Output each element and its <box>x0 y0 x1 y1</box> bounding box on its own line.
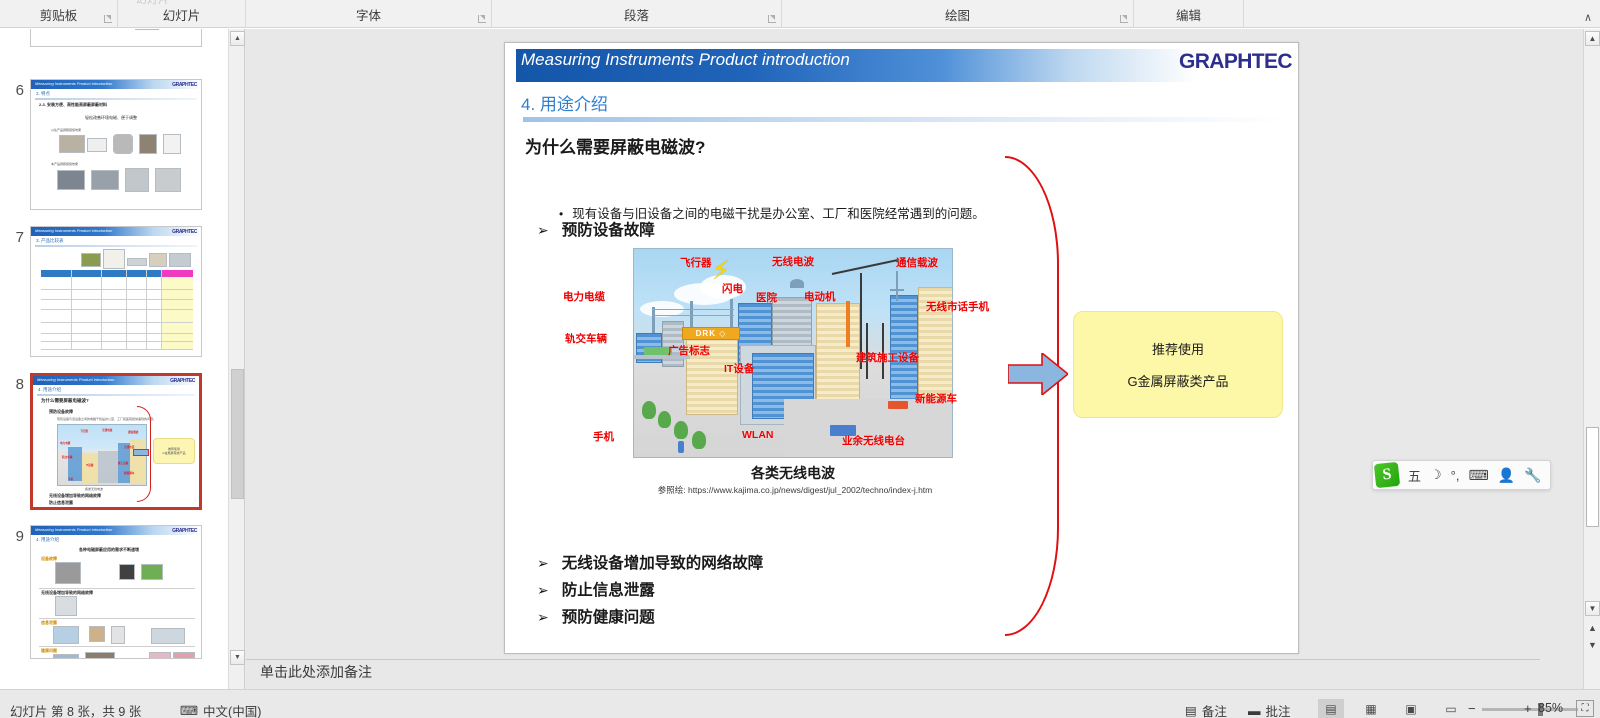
mini-text: 预防健康问题 <box>49 507 73 510</box>
mini-image <box>151 628 185 644</box>
person-icon <box>678 441 684 453</box>
city-label-lightning: 闪电 <box>722 281 743 296</box>
advertising-sign: DRK ◇ <box>682 327 740 340</box>
mini-table-vline <box>126 270 127 349</box>
mini-arrow <box>133 449 149 456</box>
mini-red-label: 新能源车 <box>124 471 134 475</box>
comment-icon: ▬ <box>1248 704 1261 718</box>
city-label-new-energy-car: 新能源车 <box>915 391 957 406</box>
slide-section-title: 4. 用途介绍 <box>521 90 608 115</box>
thumbnail-scrollbar[interactable]: ▲ ▼ <box>228 29 245 689</box>
mini-section: 2. 特点 <box>36 91 50 97</box>
notes-placeholder[interactable]: 单击此处添加备注 <box>260 662 372 682</box>
sogou-ime-toolbar[interactable]: S 五 ☽ °, ⌨ 👤 🔧 <box>1372 460 1551 490</box>
mini-text: 轻松改善环境电磁、便于调整 <box>85 115 137 121</box>
ribbon-group-label: 字体 <box>356 5 381 28</box>
dialog-launcher-icon[interactable] <box>768 15 777 24</box>
mini-image <box>103 249 125 269</box>
recommendation-callout[interactable]: 推荐使用 G金属屏蔽类产品 <box>1073 311 1283 418</box>
status-bar: 幻灯片 第 8 张，共 9 张 ⌨ 中文(中国) ▤ 备注 ▬ 批注 ▤ ▦ ▣… <box>0 689 1600 718</box>
slide-header-title: Measuring Instruments Product introducti… <box>521 50 850 70</box>
slide-canvas-area[interactable]: Measuring Instruments Product introducti… <box>246 29 1540 689</box>
city-label-radio-wave: 无线电波 <box>772 254 814 269</box>
mini-text: G金属屏蔽类产品 <box>162 451 185 455</box>
mini-text: 2-3. 安装方便、高性能高屏蔽屏蔽材料 <box>39 102 107 108</box>
mini-table-vline <box>71 270 72 349</box>
power-line <box>652 315 734 316</box>
list-item[interactable]: 9 Measuring Instruments Product introduc… <box>0 525 228 659</box>
mini-table-line <box>41 341 193 342</box>
mini-image <box>55 562 81 584</box>
mini-image <box>81 253 101 267</box>
mini-band: Measuring Instruments Product introducti… <box>31 526 201 535</box>
thumb-number: 8 <box>0 373 30 395</box>
scroll-down-icon[interactable]: ▼ <box>230 650 245 665</box>
slide-bullet: ➢ 预防健康问题 <box>537 605 655 627</box>
thumb-number: 9 <box>0 525 30 547</box>
mini-table-vline <box>101 270 102 349</box>
mini-logo: GRAPHTEC <box>170 378 195 384</box>
mini-slide: Measuring Instruments Product introducti… <box>31 526 201 658</box>
zoom-percentage[interactable]: 85% <box>1538 701 1563 715</box>
user-icon[interactable]: 👤 <box>1498 467 1515 484</box>
city-source-note: 参照绘: https://www.kajima.co.jp/news/diges… <box>585 484 1005 496</box>
view-sorter-button[interactable]: ▦ <box>1358 699 1384 718</box>
mini-logo: GRAPHTEC <box>172 229 197 235</box>
mini-divider <box>39 646 195 647</box>
mini-city-block <box>98 451 118 483</box>
mini-logo: GRAPHTEC <box>172 82 197 88</box>
scroll-up-icon[interactable]: ▲ <box>1585 31 1600 46</box>
mini-image <box>91 170 119 190</box>
mini-table-line <box>41 333 193 334</box>
mini-band: Measuring Instruments Product introducti… <box>31 80 201 89</box>
mini-rule <box>35 98 197 100</box>
thumb-number: 6 <box>0 79 30 101</box>
slide-scrollbar[interactable]: ▲ ▼ ▲ ▼ <box>1583 29 1600 689</box>
input-mode-wubi-icon[interactable]: 五 <box>1408 466 1421 485</box>
list-item[interactable]: 7 Measuring Instruments Product introduc… <box>0 226 228 357</box>
zoom-in-button[interactable]: + <box>1524 701 1532 716</box>
dialog-launcher-icon[interactable] <box>104 15 113 24</box>
slide-bullet-label: 无线设备增加导致的网络故障 <box>562 551 764 573</box>
mini-image <box>139 134 157 154</box>
scrollbar-thumb[interactable] <box>1586 427 1599 527</box>
tree-shape <box>674 421 688 439</box>
ribbon-group-label: 绘图 <box>945 5 970 28</box>
mini-slide <box>31 29 201 46</box>
mini-image <box>141 564 163 580</box>
next-slide-icon[interactable]: ▼ <box>1585 638 1600 652</box>
mini-image <box>125 168 149 192</box>
mini-slide: Measuring Instruments Product introducti… <box>33 376 199 507</box>
mini-image <box>169 253 191 267</box>
mini-city-block <box>68 447 82 481</box>
fit-to-window-button[interactable]: ⛶ <box>1576 700 1594 717</box>
dot-bullet-icon: • <box>559 207 563 221</box>
mini-image <box>173 652 195 659</box>
ribbon: 剪贴板 幻灯片 幻灯片 字体 段落 绘图 编辑 ∧ <box>0 0 1600 28</box>
city-label-wlan: WLAN <box>742 429 774 441</box>
mini-red-label: 手机 <box>68 477 73 481</box>
arrow-bullet-icon: ➢ <box>537 222 549 239</box>
slide-bullet-label: 预防健康问题 <box>562 605 655 627</box>
scroll-down-icon[interactable]: ▼ <box>1585 601 1600 616</box>
city-label-mobile-phone: 手机 <box>593 429 614 444</box>
keyboard-icon: ⌨ <box>180 703 198 718</box>
mini-image <box>155 168 181 192</box>
crane-mast <box>846 301 850 347</box>
scroll-up-icon[interactable]: ▲ <box>230 31 245 46</box>
mini-band: Measuring Instruments Product introducti… <box>31 227 201 236</box>
ribbon-ghost-label: 幻灯片 <box>136 0 169 7</box>
mini-image <box>53 626 79 644</box>
list-item[interactable] <box>0 29 228 47</box>
mini-red-label: 飞行器 <box>80 429 88 433</box>
recommendation-line-1: 推荐使用 <box>1152 339 1204 358</box>
city-label-aircraft: 飞行器 <box>680 255 712 270</box>
crane-shape <box>832 259 899 275</box>
notes-pane[interactable] <box>246 663 1540 689</box>
mini-slide: Measuring Instruments Product introducti… <box>31 227 201 356</box>
comments-toggle[interactable]: ▬ 批注 <box>1248 701 1291 718</box>
ribbon-group-label: 编辑 <box>1176 5 1201 28</box>
slide-thumbnail-pane[interactable]: 6 Measuring Instruments Product introduc… <box>0 29 228 689</box>
slide-bullet: ➢ 无线设备增加导致的网络故障 <box>537 551 763 573</box>
thumb-frame[interactable]: Measuring Instruments Product introducti… <box>30 79 202 210</box>
ribbon-group-editing[interactable]: 编辑 <box>1134 0 1244 28</box>
mini-logo: GRAPHTEC <box>172 528 197 534</box>
tree-shape <box>692 431 706 449</box>
mini-text: 防止信息泄露 <box>49 500 73 506</box>
communication-tower-icon <box>896 271 898 301</box>
notes-icon: ▤ <box>1185 703 1197 718</box>
ribbon-group-label: 幻灯片 <box>163 5 201 28</box>
road-shape <box>784 399 953 458</box>
thumb-number: 7 <box>0 226 30 248</box>
city-label-power-cable: 电力电缆 <box>563 289 605 304</box>
scrollbar-thumb[interactable] <box>231 369 244 499</box>
mini-band-title: Measuring Instruments Product introducti… <box>37 377 114 382</box>
mini-table-line <box>41 349 193 350</box>
list-item-selected[interactable]: 8 Measuring Instruments Product introduc… <box>0 373 228 510</box>
mini-red-label: IT设备 <box>86 463 94 467</box>
sogou-logo-icon[interactable]: S <box>1374 462 1400 488</box>
soft-keyboard-icon[interactable]: ⌨ <box>1468 467 1488 484</box>
slide-rule <box>523 117 1283 122</box>
slide-question-heading: 为什么需要屏蔽电磁波? <box>525 133 705 158</box>
city-label-rail-vehicle: 轨交车辆 <box>565 331 607 346</box>
mini-band-title: Measuring Instruments Product introducti… <box>35 81 112 86</box>
mini-image <box>111 626 125 644</box>
tree-shape <box>658 411 671 428</box>
mini-table-line <box>41 322 193 323</box>
language-label: 中文(中国) <box>203 701 261 718</box>
mini-red-label: 电力电缆 <box>60 441 70 445</box>
ribbon-group-clipboard[interactable]: 剪贴板 <box>0 0 118 28</box>
moon-icon[interactable]: ☽ <box>1430 467 1442 483</box>
view-show-button[interactable]: ▭ <box>1438 699 1464 718</box>
city-label-comm-carrier: 通信载波 <box>896 255 938 270</box>
city-label-motor: 电动机 <box>804 289 836 304</box>
workspace: 6 Measuring Instruments Product introduc… <box>0 29 1600 689</box>
toolbox-icon[interactable]: 🔧 <box>1524 467 1541 484</box>
city-label-ham-radio: 业余无线电台 <box>842 433 905 448</box>
slide-bullet-label: 防止信息泄露 <box>562 578 655 600</box>
city-label-it-equipment: IT设备 <box>724 361 754 376</box>
city-label-phs-handset: 无线市话手机 <box>926 299 989 314</box>
mini-section: 3. 产品比较表 <box>36 238 64 244</box>
communication-tower-icon <box>890 289 904 291</box>
mini-recommend-box: 推荐使用 G金属屏蔽类产品 <box>153 438 195 464</box>
mini-divider <box>39 588 195 589</box>
mini-table-line <box>41 309 193 310</box>
mini-text: 为什么需要屏蔽电磁波? <box>41 398 89 404</box>
mini-image <box>87 138 107 152</box>
mini-red-label: 无线电波 <box>102 428 112 432</box>
arrow-bullet-icon: ➢ <box>537 609 549 626</box>
mini-image <box>53 654 79 659</box>
thumb-frame[interactable]: Measuring Instruments Product introducti… <box>30 226 202 357</box>
mini-text: 以往产品屏蔽措施效果 <box>51 128 81 132</box>
mini-image <box>55 596 77 616</box>
mini-image <box>57 170 85 190</box>
ribbon-group-drawing[interactable]: 绘图 <box>782 0 1134 28</box>
city-illustration-image[interactable]: ⚡ <box>633 248 953 458</box>
recommendation-line-2: G金属屏蔽类产品 <box>1127 371 1228 390</box>
mini-text: 各种电磁屏蔽应用的需求不断递增 <box>79 547 139 553</box>
mini-text: 预防设备故障 <box>49 409 73 415</box>
thumb-frame[interactable] <box>30 29 202 47</box>
mini-table-highlight-col <box>161 277 193 349</box>
notes-divider <box>246 659 1540 660</box>
blue-arrow-shape[interactable] <box>1008 353 1068 395</box>
car-icon <box>888 401 908 409</box>
dialog-launcher-icon[interactable] <box>1120 15 1129 24</box>
slide-editing-surface[interactable]: Measuring Instruments Product introducti… <box>504 42 1299 654</box>
mini-rule <box>35 245 197 247</box>
mini-image <box>89 626 105 642</box>
city-label-ad-sign: 广告标志 <box>668 343 710 358</box>
arrow-bullet-icon: ➢ <box>537 555 549 572</box>
mini-band: Measuring Instruments Product introducti… <box>33 376 199 385</box>
mini-image <box>149 253 167 267</box>
comments-label: 批注 <box>1266 701 1291 718</box>
dialog-launcher-icon[interactable] <box>478 15 487 24</box>
mini-table-line <box>41 289 193 290</box>
list-item[interactable]: 6 Measuring Instruments Product introduc… <box>0 79 228 210</box>
slide-counter[interactable]: 幻灯片 第 8 张，共 9 张 <box>10 701 141 718</box>
thumb-frame[interactable]: Measuring Instruments Product introducti… <box>30 525 202 659</box>
mini-table-vline <box>146 270 147 349</box>
slide-bullet: ➢ 防止信息泄露 <box>537 578 655 600</box>
ribbon-group-slides[interactable]: 幻灯片 幻灯片 <box>118 0 246 28</box>
mini-divider <box>39 618 195 619</box>
punctuation-icon[interactable]: °, <box>1451 468 1460 483</box>
ribbon-group-paragraph[interactable]: 段落 <box>492 0 782 28</box>
mini-image <box>127 258 147 266</box>
mini-image <box>149 652 171 659</box>
slide-sub-bullet: • 现有设备与旧设备之间的电磁干扰是办公室、工厂和医院经常遇到的问题。 <box>559 203 985 222</box>
mini-image <box>119 564 135 580</box>
mini-section: 4. 用途介绍 <box>38 387 61 393</box>
lightning-icon: ⚡ <box>712 257 730 283</box>
arrow-bullet-icon: ➢ <box>537 582 549 599</box>
notes-label: 备注 <box>1202 701 1227 718</box>
thumb-frame-selected[interactable]: Measuring Instruments Product introducti… <box>30 373 202 510</box>
mini-image <box>163 134 181 154</box>
mini-image <box>59 135 85 153</box>
mini-text: 本产品屏蔽措施效果 <box>51 162 78 166</box>
city-label-hospital: 医院 <box>756 290 777 305</box>
mini-rule <box>37 394 195 396</box>
mini-table-vline <box>161 270 162 349</box>
city-label-construction: 建筑施工设备 <box>856 350 919 365</box>
mini-band-title: Measuring Instruments Product introducti… <box>35 527 112 532</box>
slide-sub-bullet-label: 现有设备与旧设备之间的电磁干扰是办公室、工厂和医院经常遇到的问题。 <box>572 203 985 222</box>
mini-table-highlight <box>161 270 193 277</box>
satellite-dish-icon <box>790 279 804 288</box>
tree-shape <box>642 401 656 419</box>
mini-table-line <box>41 299 193 300</box>
ribbon-group-label: 剪贴板 <box>40 5 78 28</box>
power-line <box>652 309 734 310</box>
language-indicator[interactable]: ⌨ 中文(中国) <box>180 701 261 718</box>
ribbon-group-font[interactable]: 字体 <box>246 0 492 28</box>
mini-slide: Measuring Instruments Product introducti… <box>31 80 201 209</box>
collapse-ribbon-icon[interactable]: ∧ <box>1584 11 1592 24</box>
notes-toggle[interactable]: ▤ 备注 <box>1185 701 1227 718</box>
mini-city-block <box>82 453 98 483</box>
mini-red-label: 轨交车辆 <box>62 455 72 459</box>
mini-text: 各类无线电波 <box>85 487 103 491</box>
previous-slide-icon[interactable]: ▲ <box>1585 621 1600 635</box>
graphtec-logo: GRAPHTEC <box>1179 50 1292 74</box>
mini-section: 4. 用途介绍 <box>36 537 59 543</box>
view-reading-button[interactable]: ▣ <box>1398 699 1424 718</box>
zoom-out-button[interactable]: − <box>1468 701 1476 716</box>
mini-red-label: 施工设备 <box>118 461 128 465</box>
mini-image <box>135 29 159 30</box>
mini-image <box>85 652 115 659</box>
red-brace-shape[interactable] <box>1005 156 1059 636</box>
ribbon-group-label: 段落 <box>624 5 649 28</box>
view-normal-button[interactable]: ▤ <box>1318 699 1344 718</box>
mini-image <box>113 134 133 154</box>
mini-text: 无线设备增加导致的网络故障 <box>49 493 101 499</box>
mini-band-title: Measuring Instruments Product introducti… <box>35 228 112 233</box>
city-caption: 各类无线电波 <box>633 463 953 483</box>
